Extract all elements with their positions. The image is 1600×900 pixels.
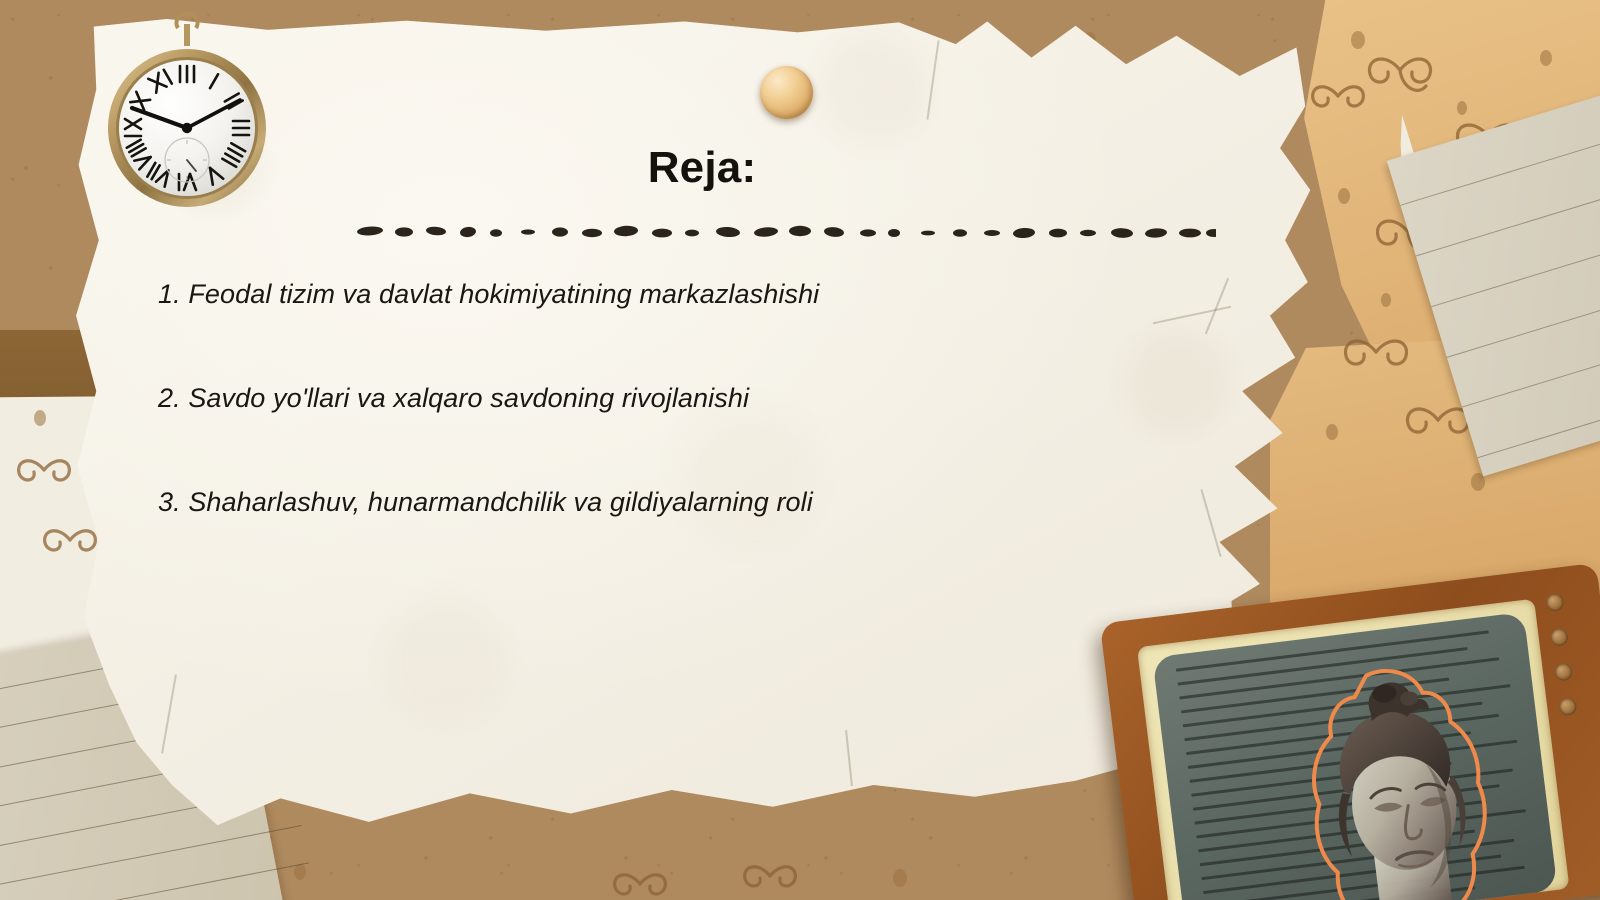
picture-mat — [1137, 599, 1570, 900]
paper-crease — [161, 674, 177, 753]
vintage-wall-clock — [92, 8, 282, 208]
knob-icon — [1554, 663, 1573, 682]
list-item: 3. Shaharlashuv, hunarmandchilik va gild… — [158, 486, 1258, 520]
picture-screen — [1152, 612, 1557, 900]
slide-canvas: Reja: — [0, 0, 1600, 900]
dashed-divider — [356, 216, 1216, 246]
paper-crease — [926, 40, 939, 119]
agenda-list: 1. Feodal tizim va davlat hokimiyatining… — [158, 278, 1258, 589]
paper-crease — [845, 730, 853, 786]
knob-icon — [1558, 697, 1577, 716]
gold-pushpin — [760, 66, 813, 119]
statue-head-illustration — [1274, 653, 1533, 900]
knob-icon — [1550, 628, 1569, 647]
picture-frame-knobs — [1546, 590, 1600, 734]
list-item: 1. Feodal tizim va davlat hokimiyatining… — [158, 278, 1258, 312]
list-item: 2. Savdo yo'llari va xalqaro savdoning r… — [158, 382, 1258, 416]
knob-icon — [1546, 593, 1565, 612]
